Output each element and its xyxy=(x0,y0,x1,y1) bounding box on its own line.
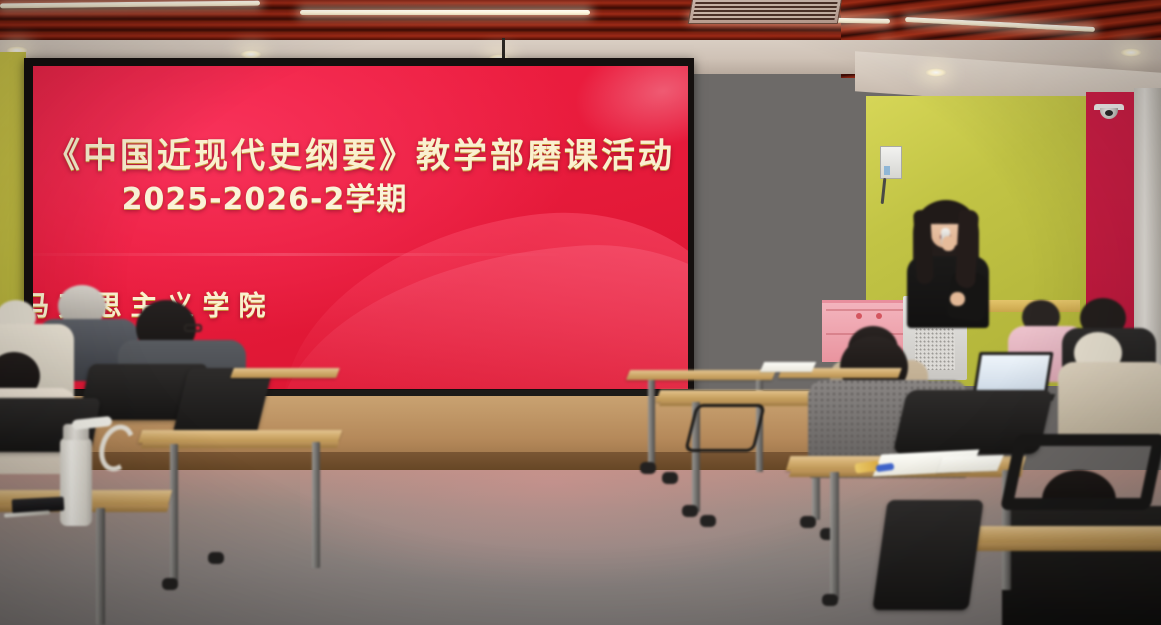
semester-text: 2025-2026-2学期 xyxy=(122,174,408,218)
chair-center xyxy=(684,404,766,452)
presentation-title: 《中国近现代史纲要》教学部磨课活动 xyxy=(33,128,688,177)
papers-on-desk-2 xyxy=(936,455,1003,473)
wall-control-box xyxy=(880,146,902,179)
desk-leg xyxy=(648,380,655,468)
cabinet-knob xyxy=(876,313,882,319)
attendee-right-2 xyxy=(1068,332,1161,432)
water-bottle xyxy=(60,438,92,526)
desk-caster xyxy=(640,462,656,474)
presenter xyxy=(893,196,1003,326)
presenter-eye-left xyxy=(935,222,941,224)
desk-leg xyxy=(170,444,178,584)
hvac-vent-icon xyxy=(688,0,843,24)
desk-caster xyxy=(682,505,698,517)
desk-caster xyxy=(662,472,678,484)
camera-dome xyxy=(1100,108,1118,119)
chair-right-2 xyxy=(1000,434,1161,510)
desk-caster xyxy=(208,552,224,564)
desk-center-empty-1 xyxy=(626,370,776,380)
floor-reflection xyxy=(300,470,860,590)
desk-caster xyxy=(800,516,816,528)
downlight-4 xyxy=(925,68,947,77)
classroom-photo: 《中国近现代史纲要》教学部磨课活动 2025-2026-2学期 马克思主义学院 … xyxy=(0,0,1161,625)
desk-left-back xyxy=(230,368,340,378)
presenter-hair-right xyxy=(955,210,979,289)
presenter-eye-right xyxy=(948,222,954,224)
downlight-5 xyxy=(1120,48,1142,57)
desk-leg xyxy=(830,472,839,600)
desk-caster xyxy=(162,578,178,590)
light-strip-2 xyxy=(300,10,590,15)
security-camera-icon xyxy=(1094,104,1124,118)
cabinet-knob xyxy=(856,313,862,319)
desk-leg xyxy=(96,508,105,625)
wall-yellow-left xyxy=(0,52,26,342)
desk-caster xyxy=(822,594,838,606)
chair-right-3 xyxy=(872,500,983,610)
desk-leg xyxy=(312,442,320,568)
presentation-semester: 2025-2026-2学期 xyxy=(33,174,688,218)
desk-caster xyxy=(700,515,716,527)
glasses-icon xyxy=(184,324,202,332)
presenter-hand xyxy=(942,236,955,251)
papers-back-desk xyxy=(760,362,816,372)
attendee-torso xyxy=(1002,506,1161,625)
presenter-hand-lower xyxy=(950,292,965,306)
laptop-screen xyxy=(976,355,1050,393)
